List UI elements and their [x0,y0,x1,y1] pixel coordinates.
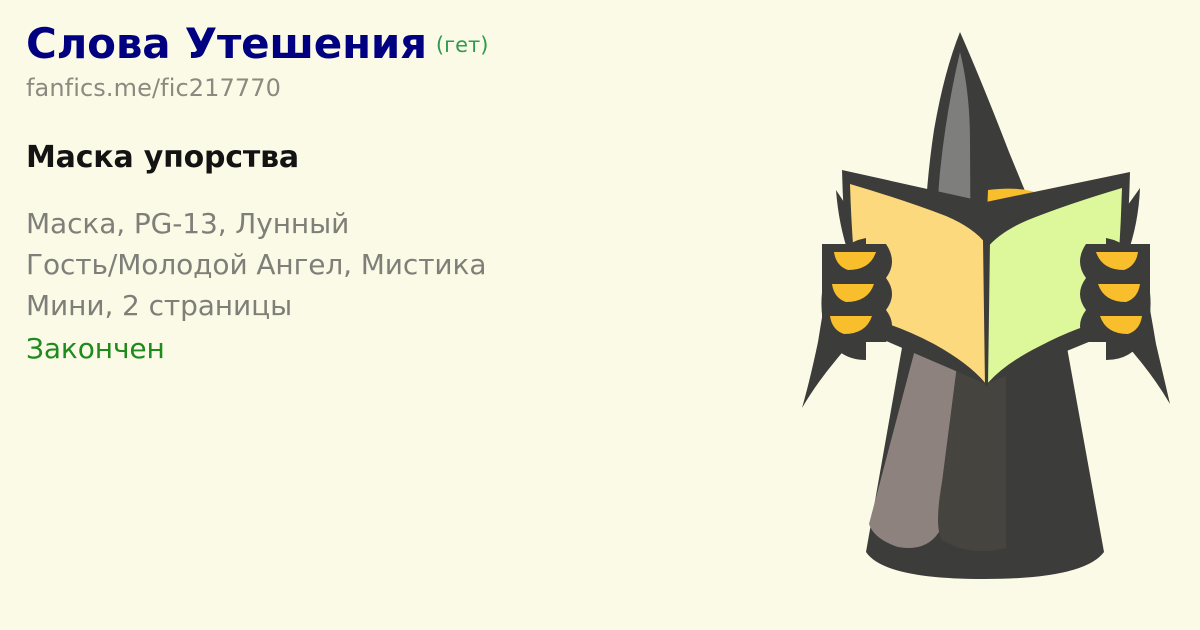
page-title: Слова Утешения [26,19,427,68]
story-url: fanfics.me/fic217770 [26,74,756,102]
meta-line: Маска, PG-13, Лунный [26,203,756,244]
witch-reading-book-illustration [774,12,1194,622]
text-column: Слова Утешения(гет) fanfics.me/fic217770… [26,22,756,369]
witch-illustration-svg [774,12,1194,622]
chapter-title: Маска упорства [26,140,756,175]
title-row: Слова Утешения(гет) [26,22,756,67]
right-hand [1080,238,1151,360]
meta-line: Гость/Молодой Ангел, Мистика [26,244,756,285]
status-badge: Закончен [26,328,756,369]
preview-card: Слова Утешения(гет) fanfics.me/fic217770… [0,0,1200,630]
meta-line: Мини, 2 страницы [26,285,756,326]
category-tag: (гет) [436,33,489,57]
story-meta: Маска, PG-13, Лунный Гость/Молодой Ангел… [26,203,756,370]
left-hand [821,238,892,360]
